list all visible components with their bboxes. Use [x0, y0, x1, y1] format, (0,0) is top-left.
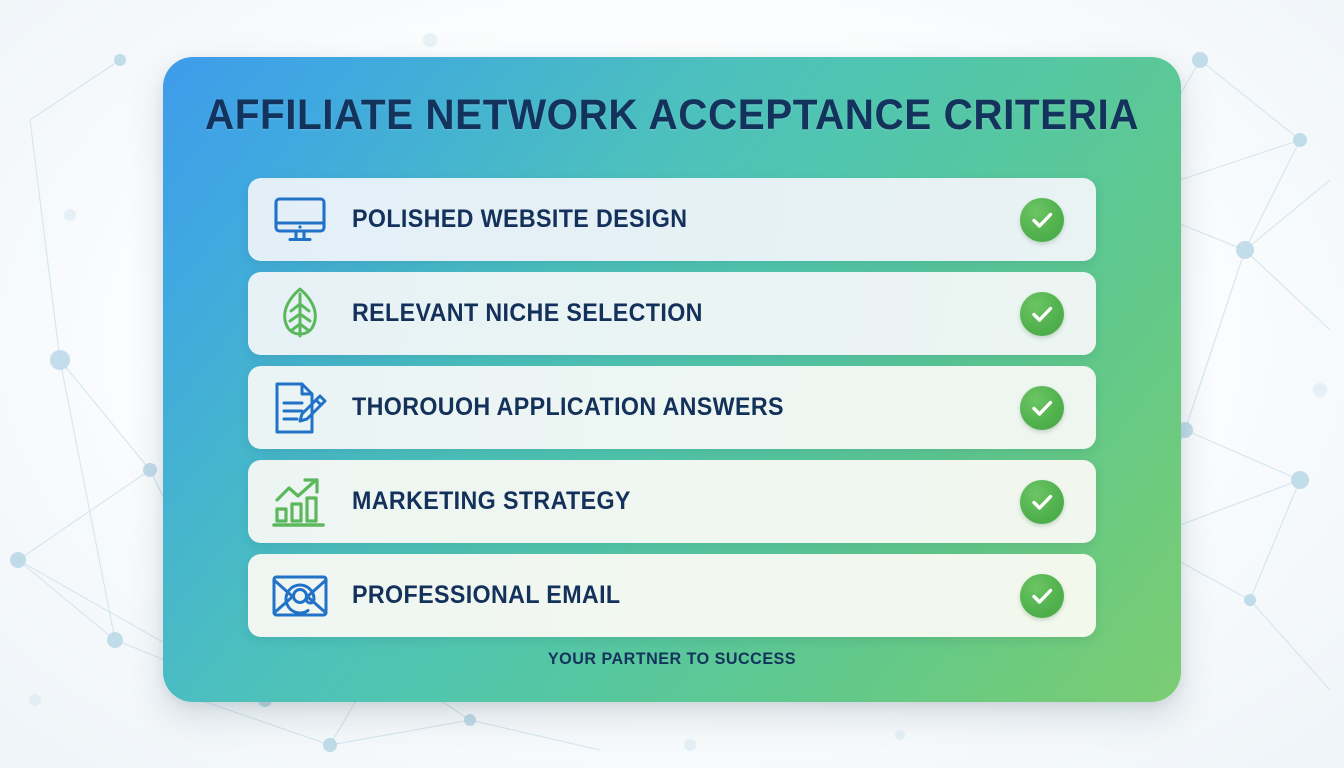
- email-at-icon: [248, 554, 352, 637]
- criteria-label: MARKETING STRATEGY: [352, 487, 943, 516]
- list-item[interactable]: MARKETING STRATEGY: [248, 460, 1096, 543]
- criteria-label: RELEVANT NICHE SELECTION: [352, 299, 943, 328]
- status-badge: [988, 178, 1096, 261]
- list-item[interactable]: PROFESSIONAL EMAIL: [248, 554, 1096, 637]
- criteria-label: POLISHED WEBSITE DESIGN: [352, 205, 943, 234]
- check-icon: [1020, 574, 1064, 618]
- criteria-list: POLISHED WEBSITE DESIGN: [248, 178, 1096, 648]
- criteria-card: AFFILIATE NETWORK ACCEPTANCE CRITERIA PO…: [163, 57, 1181, 702]
- status-badge: [988, 460, 1096, 543]
- check-icon: [1020, 198, 1064, 242]
- list-item[interactable]: RELEVANT NICHE SELECTION: [248, 272, 1096, 355]
- leaf-icon: [248, 272, 352, 355]
- status-badge: [988, 272, 1096, 355]
- monitor-icon: [248, 178, 352, 261]
- list-item[interactable]: POLISHED WEBSITE DESIGN: [248, 178, 1096, 261]
- criteria-label: THOROUOH APPLICATION ANSWERS: [352, 393, 943, 422]
- check-icon: [1020, 480, 1064, 524]
- status-badge: [988, 554, 1096, 637]
- check-icon: [1020, 292, 1064, 336]
- criteria-label: PROFESSIONAL EMAIL: [352, 581, 943, 610]
- growth-chart-icon: [248, 460, 352, 543]
- list-item[interactable]: THOROUOH APPLICATION ANSWERS: [248, 366, 1096, 449]
- check-icon: [1020, 386, 1064, 430]
- card-footer-tagline: YOUR PARTNER TO SUCCESS: [188, 649, 1155, 669]
- page-title: AFFILIATE NETWORK ACCEPTANCE CRITERIA: [194, 89, 1151, 141]
- document-pencil-icon: [248, 366, 352, 449]
- status-badge: [988, 366, 1096, 449]
